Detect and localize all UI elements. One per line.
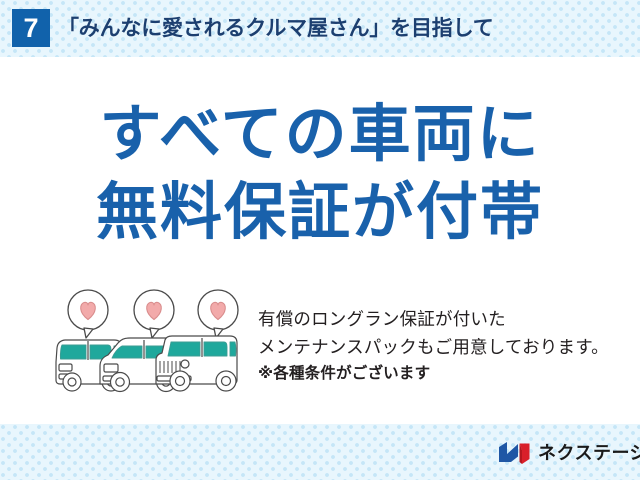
headline-line-2: 無料保証が付帯 [0,174,640,252]
headline-block: すべての車両に 無料保証が付帯 [0,96,640,252]
body-line-2: メンテナンスパックもご用意しております。 [258,333,630,361]
brand-name: ネクステージ [538,441,640,465]
body-line-1: 有償のロングラン保証が付いた [258,305,630,333]
speech-bubble-2 [134,290,174,338]
section-number-badge: 7 [12,9,50,47]
headline-line-1: すべての車両に [0,96,640,174]
three-cars-illustration [52,288,257,398]
brand-logo: ネクステージ [498,440,640,466]
promo-poster: 7 「みんなに愛されるクルマ屋さん」を目指して すべての車両に 無料保証が付帯 [0,0,640,480]
nexstage-n-mark-icon [498,441,531,465]
vehicle-suv-jeep [156,336,237,391]
speech-bubble-3 [198,290,238,338]
speech-bubble-1 [68,290,108,338]
body-line-note: ※各種条件がございます [258,361,630,387]
body-copy-block: 有償のロングラン保証が付いた メンテナンスパックもご用意しております。 ※各種条… [258,305,630,387]
page-title: 「みんなに愛されるクルマ屋さん」を目指して [58,14,494,44]
